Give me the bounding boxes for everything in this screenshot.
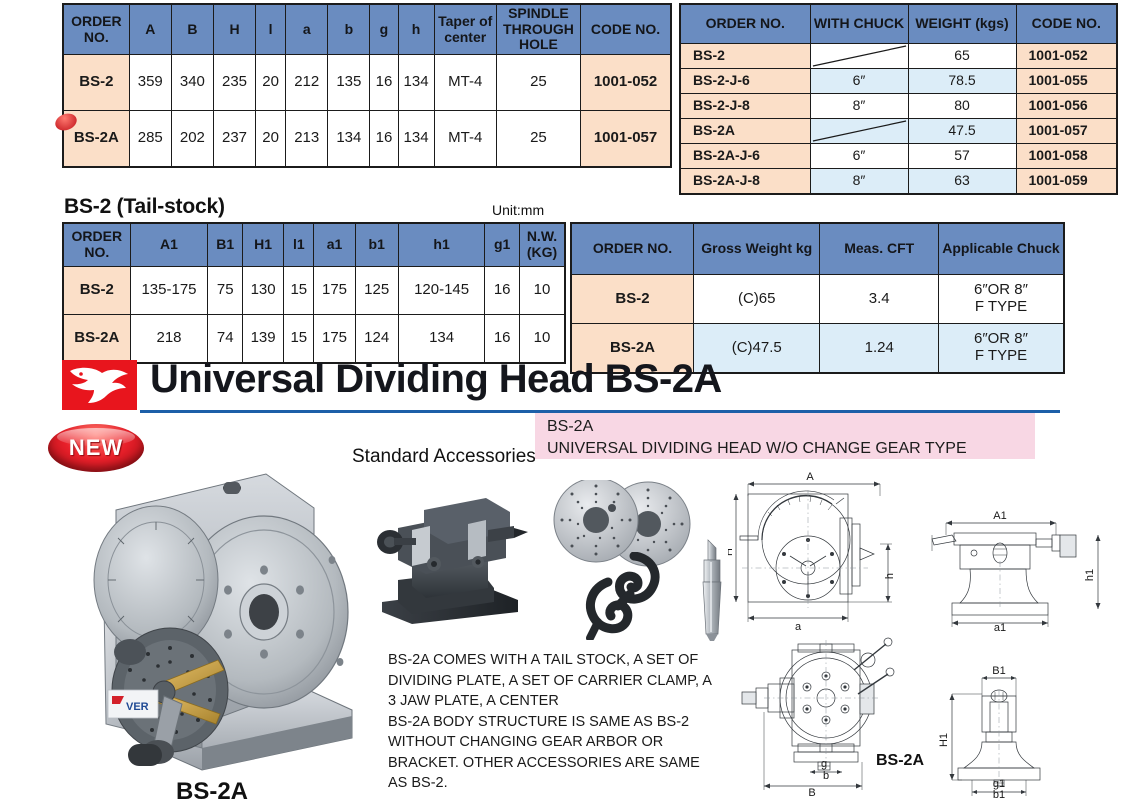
- cell-a: 359: [129, 55, 171, 111]
- drawing-tailstock-front-view: B1 H1 g1 b1: [938, 648, 1106, 798]
- cell-h1-upper: 139: [243, 315, 284, 364]
- eagle-logo-icon: [62, 360, 137, 410]
- col-g1: g1: [485, 223, 520, 267]
- col-a: A: [129, 4, 171, 55]
- table-header-row: ORDER NO. Gross Weight kg Meas. CFT Appl…: [571, 223, 1064, 275]
- cell-order-no: BS-2: [680, 44, 810, 69]
- col-taper: Taper of center: [434, 4, 496, 55]
- cell-with-chuck: 8″: [810, 169, 908, 195]
- accessory-center-image: [690, 538, 732, 642]
- cell-gross-weight: (C)65: [693, 275, 820, 324]
- drawing-front-view: A a H h: [728, 468, 926, 633]
- cell-taper: MT-4: [434, 55, 496, 111]
- table-row: BS-2 359 340 235 20 212 135 16 134 MT-4 …: [63, 55, 671, 111]
- col-l: l: [256, 4, 286, 55]
- col-l1: l1: [284, 223, 314, 267]
- main-spec-table: ORDER NO. A B H l a b g h Taper of cente…: [62, 3, 672, 168]
- cell-h: 237: [213, 111, 255, 168]
- cell-h1-lower: 134: [398, 315, 485, 364]
- col-a-lower: a: [286, 4, 328, 55]
- dim-label-A1: A1: [993, 510, 1006, 522]
- cell-order-no: BS-2A-J-8: [680, 169, 810, 195]
- col-order-no: ORDER NO.: [571, 223, 693, 275]
- cell-a1: 218: [130, 315, 208, 364]
- table-row: BS-2A-J-6 6″ 57 1001-058: [680, 144, 1117, 169]
- table-header-row: ORDER NO. WITH CHUCK WEIGHT (kgs) CODE N…: [680, 4, 1117, 44]
- cell-order-no: BS-2: [571, 275, 693, 324]
- cell-code-no: 1001-055: [1016, 69, 1117, 94]
- col-meas-cft: Meas. CFT: [820, 223, 938, 275]
- tailstock-front-svg: B1 H1 g1 b1: [938, 648, 1106, 798]
- description-line: BS-2A COMES WITH A TAIL STOCK, A SET OF: [388, 650, 728, 671]
- cell-meas-cft: 3.4: [820, 275, 938, 324]
- cell-b: 202: [171, 111, 213, 168]
- drawing-caption: BS-2A: [876, 752, 924, 770]
- cell-order-no: BS-2A: [680, 119, 810, 144]
- tailstock-illustration: [368, 484, 528, 624]
- info-model-description: UNIVERSAL DIVIDING HEAD W/O CHANGE GEAR …: [547, 438, 1035, 460]
- cell-h1-lower: 120-145: [398, 267, 485, 315]
- drawing-top-view: g b B: [738, 636, 938, 798]
- cell-code-no: 1001-057: [581, 111, 671, 168]
- col-code-no: CODE NO.: [581, 4, 671, 55]
- diagonal-slash-icon: [811, 44, 908, 68]
- col-weight: WEIGHT (kgs): [908, 4, 1016, 44]
- cell-code-no: 1001-058: [1016, 144, 1117, 169]
- cell-taper: MT-4: [434, 111, 496, 168]
- cell-code-no: 1001-059: [1016, 169, 1117, 195]
- cell-a-lower: 213: [286, 111, 328, 168]
- col-g: g: [370, 4, 398, 55]
- cell-l: 20: [256, 55, 286, 111]
- weight-table: ORDER NO. WITH CHUCK WEIGHT (kgs) CODE N…: [679, 3, 1118, 195]
- dim-label-b: b: [823, 770, 829, 782]
- col-order-no: ORDER NO.: [63, 4, 129, 55]
- dim-label-g: g: [821, 758, 827, 770]
- col-with-chuck: WITH CHUCK: [810, 4, 908, 44]
- cell-order-no: BS-2-J-6: [680, 69, 810, 94]
- col-nw: N.W. (KG): [519, 223, 565, 267]
- cell-order-no: BS-2A: [63, 315, 130, 364]
- cell-code-no: 1001-052: [581, 55, 671, 111]
- cell-l1: 15: [284, 267, 314, 315]
- col-h-lower: h: [398, 4, 434, 55]
- cell-b1: 75: [208, 267, 243, 315]
- cell-nw: 10: [519, 267, 565, 315]
- dim-label-H: H: [728, 548, 735, 556]
- col-gross-weight: Gross Weight kg: [693, 223, 820, 275]
- table-row: BS-2-J-6 6″ 78.5 1001-055: [680, 69, 1117, 94]
- chuck-type-line: F TYPE: [941, 299, 1061, 316]
- table-row: BS-2 135-175 75 130 15 175 125 120-145 1…: [63, 267, 565, 315]
- cell-applicable-chuck: 6″OR 8″ F TYPE: [938, 275, 1064, 324]
- cell-with-chuck: 6″: [810, 144, 908, 169]
- cell-h-lower: 134: [398, 111, 434, 168]
- cell-b1: 74: [208, 315, 243, 364]
- table-row: BS-2A 47.5 1001-057: [680, 119, 1117, 144]
- cell-g1: 16: [485, 315, 520, 364]
- description-line: 3 JAW PLATE, A CENTER: [388, 691, 728, 712]
- cell-order-no: BS-2-J-8: [680, 94, 810, 119]
- cell-weight: 65: [908, 44, 1016, 69]
- tailstock-side-svg: A1 a1 h1: [930, 505, 1105, 633]
- accessory-carrier-clamp-image: [578, 552, 668, 640]
- cell-weight: 80: [908, 94, 1016, 119]
- cell-h: 235: [213, 55, 255, 111]
- dim-label-B1: B1: [992, 665, 1005, 677]
- cell-l1: 15: [284, 315, 314, 364]
- table-row: BS-2 (C)65 3.4 6″OR 8″ F TYPE: [571, 275, 1064, 324]
- cell-spindle-hole: 25: [496, 55, 580, 111]
- drawing-tailstock-side-view: A1 a1 h1: [930, 505, 1105, 633]
- col-code-no: CODE NO.: [1016, 4, 1117, 44]
- lathe-center-illustration: [690, 538, 732, 642]
- col-order-no: ORDER NO.: [680, 4, 810, 44]
- col-applicable-chuck: Applicable Chuck: [938, 223, 1064, 275]
- cell-a: 285: [129, 111, 171, 168]
- description-line: BRACKET. OTHER ACCESSORIES ARE SAME: [388, 753, 728, 774]
- dim-label-b1: b1: [993, 789, 1005, 798]
- cell-b: 340: [171, 55, 213, 111]
- svg-text:VER: VER: [126, 701, 149, 713]
- dim-label-B: B: [808, 787, 815, 798]
- info-model-code: BS-2A: [547, 416, 1035, 438]
- dividing-head-illustration: VER: [52, 452, 372, 782]
- cell-with-chuck-empty: [810, 119, 908, 144]
- table-header-row: ORDER NO. A B H l a b g h Taper of cente…: [63, 4, 671, 55]
- tailstock-table: ORDER NO. A1 B1 H1 l1 a1 b1 h1 g1 N.W. (…: [62, 222, 566, 364]
- accessory-tailstock-image: [368, 484, 528, 624]
- cell-b-lower: 134: [328, 111, 370, 168]
- cell-b-lower: 135: [328, 55, 370, 111]
- dim-label-h1: h1: [1084, 569, 1096, 581]
- carrier-clamp-illustration: [578, 552, 668, 640]
- cell-code-no: 1001-052: [1016, 44, 1117, 69]
- cell-h-lower: 134: [398, 55, 434, 111]
- model-info-box: BS-2A UNIVERSAL DIVIDING HEAD W/O CHANGE…: [535, 413, 1035, 459]
- cell-g: 16: [370, 111, 398, 168]
- chuck-size-line: 6″OR 8″: [941, 282, 1061, 299]
- unit-label: Unit:mm: [492, 202, 544, 218]
- col-h1-lower: h1: [398, 223, 485, 267]
- page-title: Universal Dividing Head BS-2A: [150, 357, 722, 402]
- cell-weight: 47.5: [908, 119, 1016, 144]
- cell-weight: 78.5: [908, 69, 1016, 94]
- col-b1: B1: [208, 223, 243, 267]
- description-line: AS BS-2.: [388, 773, 728, 794]
- cell-order-no: BS-2: [63, 267, 130, 315]
- accessories-label: Standard Accessories: [352, 446, 536, 468]
- cell-code-no: 1001-056: [1016, 94, 1117, 119]
- col-order-no: ORDER NO.: [63, 223, 130, 267]
- col-a1: A1: [130, 223, 208, 267]
- dim-label-h: h: [884, 573, 896, 579]
- eagle-head-glyph: [66, 365, 132, 405]
- dim-label-H1: H1: [938, 733, 950, 747]
- cell-g: 16: [370, 55, 398, 111]
- col-h: H: [213, 4, 255, 55]
- cell-weight: 57: [908, 144, 1016, 169]
- table-row: BS-2 65 1001-052: [680, 44, 1117, 69]
- table-row: BS-2A-J-8 8″ 63 1001-059: [680, 169, 1117, 195]
- chuck-size-line: 6″OR 8″: [941, 331, 1061, 348]
- col-a1-lower: a1: [314, 223, 355, 267]
- cell-order-no: BS-2A-J-6: [680, 144, 810, 169]
- title-banner: Universal Dividing Head BS-2A: [62, 360, 1062, 410]
- table-row: BS-2A 218 74 139 15 175 124 134 16 10: [63, 315, 565, 364]
- cell-weight: 63: [908, 169, 1016, 195]
- col-spindle-hole: SPINDLE THROUGH HOLE: [496, 4, 580, 55]
- cell-b1-lower: 125: [355, 267, 398, 315]
- col-h1-upper: H1: [243, 223, 284, 267]
- description-line: DIVIDING PLATE, A SET OF CARRIER CLAMP, …: [388, 671, 728, 692]
- catalog-page: ORDER NO. A B H l a b g h Taper of cente…: [0, 0, 1123, 802]
- tailstock-title: BS-2 (Tail-stock): [64, 195, 225, 219]
- table-row: BS-2A 285 202 237 20 213 134 16 134 MT-4…: [63, 111, 671, 168]
- dim-label-a1: a1: [994, 622, 1006, 633]
- diagonal-slash-icon: [811, 119, 908, 143]
- packing-table: ORDER NO. Gross Weight kg Meas. CFT Appl…: [570, 222, 1065, 374]
- description-line: WITHOUT CHANGING GEAR ARBOR OR: [388, 732, 728, 753]
- cell-a-lower: 212: [286, 55, 328, 111]
- cell-spindle-hole: 25: [496, 111, 580, 168]
- product-description: BS-2A COMES WITH A TAIL STOCK, A SET OF …: [388, 650, 728, 794]
- dim-label-a: a: [795, 621, 802, 633]
- cell-a1: 135-175: [130, 267, 208, 315]
- cell-a1-lower: 175: [314, 315, 355, 364]
- top-view-svg: g b B: [738, 636, 938, 798]
- cell-nw: 10: [519, 315, 565, 364]
- table-header-row: ORDER NO. A1 B1 H1 l1 a1 b1 h1 g1 N.W. (…: [63, 223, 565, 267]
- front-view-svg: A a H h: [728, 468, 926, 633]
- cell-code-no: 1001-057: [1016, 119, 1117, 144]
- cell-with-chuck: 6″: [810, 69, 908, 94]
- col-b: B: [171, 4, 213, 55]
- dim-label-A: A: [806, 471, 814, 483]
- cell-with-chuck: 8″: [810, 94, 908, 119]
- cell-h1-upper: 130: [243, 267, 284, 315]
- cell-with-chuck-empty: [810, 44, 908, 69]
- cell-order-no: BS-2: [63, 55, 129, 111]
- table-row: BS-2-J-8 8″ 80 1001-056: [680, 94, 1117, 119]
- col-b-lower: b: [328, 4, 370, 55]
- cell-g1: 16: [485, 267, 520, 315]
- cell-b1-lower: 124: [355, 315, 398, 364]
- cell-l: 20: [256, 111, 286, 168]
- col-b1-lower: b1: [355, 223, 398, 267]
- cell-a1-lower: 175: [314, 267, 355, 315]
- description-line: BS-2A BODY STRUCTURE IS SAME AS BS-2: [388, 712, 728, 733]
- product-photo: VER: [52, 452, 372, 782]
